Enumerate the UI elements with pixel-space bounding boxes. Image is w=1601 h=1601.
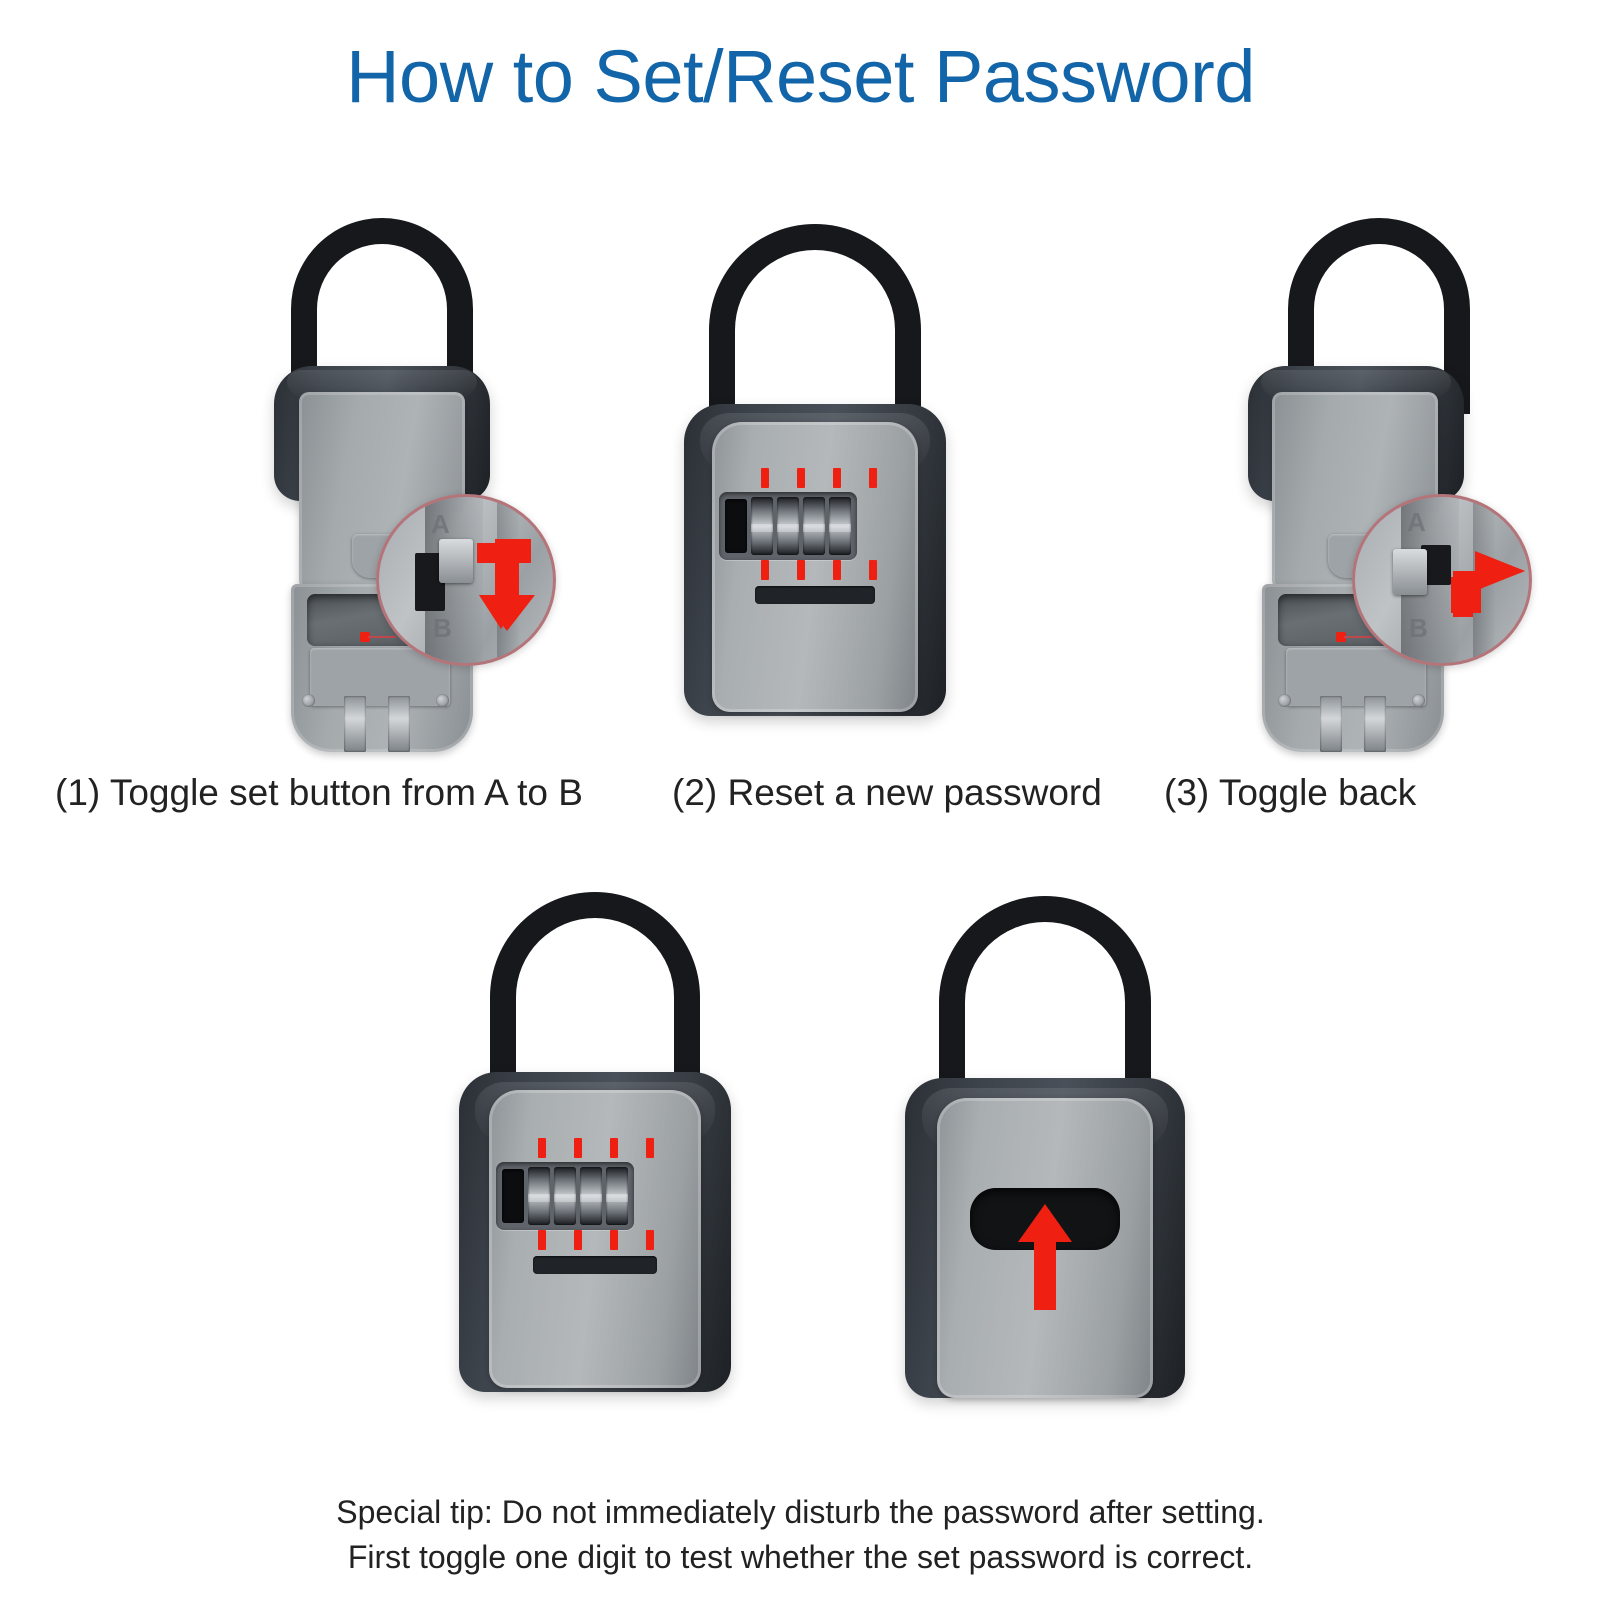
- dial-tick-up-1: [761, 468, 769, 488]
- callout-arrow-down-icon: [465, 533, 547, 637]
- dial-tick-up-2: [574, 1138, 582, 1158]
- dial-1[interactable]: [751, 497, 773, 555]
- callout-circle-step3: A B: [1352, 494, 1532, 666]
- screw-right: [436, 694, 449, 707]
- dial-up-arrows: [761, 468, 877, 488]
- callout-circle-step1: A B: [376, 494, 556, 666]
- special-tip: Special tip: Do not immediately disturb …: [0, 1490, 1601, 1581]
- dial-tick-up-3: [833, 468, 841, 488]
- dial-tick-down-4: [869, 560, 877, 580]
- page-title: How to Set/Reset Password: [0, 38, 1601, 116]
- callout-label-b: B: [433, 613, 452, 644]
- callout-leader-line: [1344, 636, 1372, 638]
- dial-indicator-window: [502, 1169, 524, 1223]
- cover-slide-handle[interactable]: [533, 1256, 657, 1274]
- step-2-figure: [645, 196, 985, 756]
- lockbox-closed-4: [420, 866, 770, 1426]
- callout-label-b: B: [1409, 613, 1428, 644]
- dial-tick-up-2: [797, 468, 805, 488]
- dial-tick-down-3: [610, 1230, 618, 1250]
- captions-row: (1) Toggle set button from A to B (2) Re…: [0, 774, 1601, 830]
- callout-arrow-up-right-icon: [1439, 525, 1531, 621]
- steps-row-bottom: [0, 866, 1601, 1426]
- special-tip-line-2: First toggle one digit to test whether t…: [0, 1535, 1601, 1580]
- dial-tick-down-4: [646, 1230, 654, 1250]
- steps-row-top: A B: [0, 196, 1601, 756]
- dial-tick-down-1: [538, 1230, 546, 1250]
- dial-tick-up-4: [646, 1138, 654, 1158]
- lockbox-open-3: A B: [1140, 196, 1530, 756]
- dial-tick-up-3: [610, 1138, 618, 1158]
- step-1-figure: A B: [192, 196, 572, 756]
- dial-up-arrows: [538, 1138, 654, 1158]
- reset-wheel-right: [1364, 696, 1386, 752]
- dial-tick-down-2: [797, 560, 805, 580]
- reset-wheel-right: [388, 696, 410, 752]
- caption-step-1: (1) Toggle set button from A to B: [55, 774, 583, 811]
- cover-slide-handle[interactable]: [755, 586, 875, 604]
- callout-label-a: A: [431, 509, 450, 540]
- dial-4[interactable]: [829, 497, 851, 555]
- special-tip-line-1: Special tip: Do not immediately disturb …: [0, 1490, 1601, 1535]
- callout-leader-line: [368, 636, 396, 638]
- callout-label-a: A: [1407, 507, 1426, 538]
- dial-2[interactable]: [554, 1167, 576, 1225]
- dial-down-arrows: [538, 1230, 654, 1250]
- dial-tick-down-2: [574, 1230, 582, 1250]
- dial-indicator-window: [725, 499, 747, 553]
- dial-2[interactable]: [777, 497, 799, 555]
- caption-step-3: (3) Toggle back: [1164, 774, 1416, 811]
- step-5-figure: [870, 866, 1220, 1426]
- reset-wheel-left: [1320, 696, 1342, 752]
- dial-down-arrows: [761, 560, 877, 580]
- dial-3[interactable]: [803, 497, 825, 555]
- combination-dial-cluster[interactable]: [496, 1162, 634, 1230]
- dial-tick-down-1: [761, 560, 769, 580]
- lockbox-cover-open-5: [870, 866, 1220, 1426]
- dial-tick-up-4: [869, 468, 877, 488]
- reset-wheel-left: [344, 696, 366, 752]
- step-4-figure: [420, 866, 770, 1426]
- dial-4[interactable]: [606, 1167, 628, 1225]
- dial-tick-up-1: [538, 1138, 546, 1158]
- set-button-switch: [1393, 549, 1427, 595]
- step-3-figure: A B: [1140, 196, 1530, 756]
- lockbox-closed-2: [645, 196, 985, 756]
- lockbox-open-1: A B: [192, 196, 572, 756]
- screw-right: [1412, 694, 1425, 707]
- slide-up-arrow-icon: [1016, 1202, 1074, 1312]
- caption-step-2: (2) Reset a new password: [672, 774, 1102, 811]
- dial-1[interactable]: [528, 1167, 550, 1225]
- dial-3[interactable]: [580, 1167, 602, 1225]
- combination-dial-cluster[interactable]: [719, 492, 857, 560]
- screw-left: [302, 694, 315, 707]
- dial-tick-down-3: [833, 560, 841, 580]
- screw-left: [1278, 694, 1291, 707]
